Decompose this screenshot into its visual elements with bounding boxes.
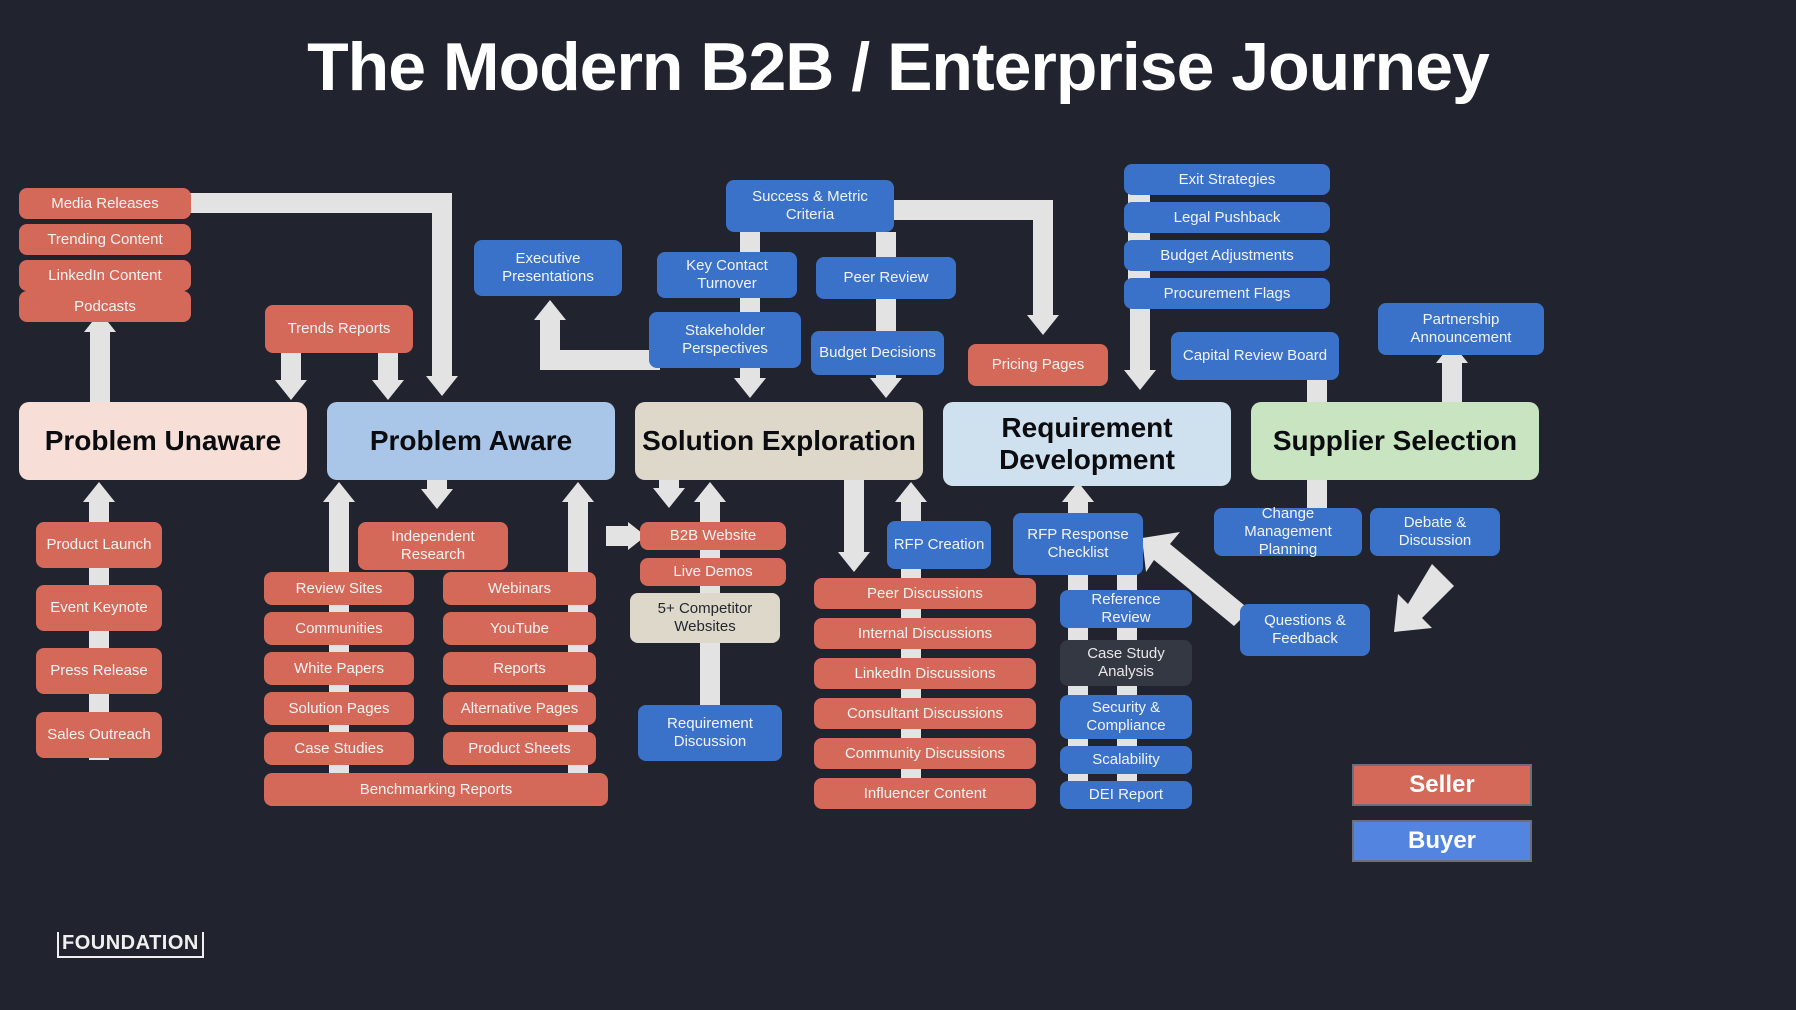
arrow-solution-up bbox=[694, 482, 726, 502]
connector-aware-to-solution-h bbox=[606, 526, 630, 546]
node-label: YouTube bbox=[490, 620, 549, 638]
node-label: LinkedIn Content bbox=[48, 267, 161, 285]
node-capital-review-board[interactable]: Capital Review Board bbox=[1171, 332, 1339, 380]
arrow-media-to-aware bbox=[426, 376, 458, 396]
connector-solution-right-down-v bbox=[844, 478, 864, 558]
node-communities[interactable]: Communities bbox=[264, 612, 414, 645]
node-label: Executive Presentations bbox=[480, 250, 616, 285]
node-label: Requirement Discussion bbox=[644, 715, 776, 750]
node-case-studies[interactable]: Case Studies bbox=[264, 732, 414, 765]
node-sales-outreach[interactable]: Sales Outreach bbox=[36, 712, 162, 758]
node-pricing-pages[interactable]: Pricing Pages bbox=[968, 344, 1108, 386]
node-community-discussions[interactable]: Community Discussions bbox=[814, 738, 1036, 769]
node-internal-discussions[interactable]: Internal Discussions bbox=[814, 618, 1036, 649]
node-label: Questions & Feedback bbox=[1246, 612, 1364, 647]
node-alternative-pages[interactable]: Alternative Pages bbox=[443, 692, 596, 725]
node-youtube[interactable]: YouTube bbox=[443, 612, 596, 645]
node-label: White Papers bbox=[294, 660, 384, 678]
node-label: RFP Creation bbox=[894, 536, 985, 554]
node-label: LinkedIn Discussions bbox=[855, 665, 996, 683]
node-label: Press Release bbox=[50, 662, 148, 680]
arrow-stake-down bbox=[734, 378, 766, 398]
node-change-management-planning[interactable]: Change Management Planning bbox=[1214, 508, 1362, 556]
node-questions-feedback[interactable]: Questions & Feedback bbox=[1240, 604, 1370, 656]
node-label: Partnership Announcement bbox=[1384, 311, 1538, 346]
connector-trends-left-v bbox=[281, 350, 301, 382]
connector-stake-to-exec-v bbox=[540, 318, 560, 356]
node-linkedin-content[interactable]: LinkedIn Content bbox=[19, 260, 191, 291]
node-label: Peer Review bbox=[843, 269, 928, 287]
node-label: Stakeholder Perspectives bbox=[655, 322, 795, 357]
stage-supplier-selection[interactable]: Supplier Selection bbox=[1251, 402, 1539, 480]
node-label: Case Studies bbox=[294, 740, 383, 758]
node-requirement-discussion[interactable]: Requirement Discussion bbox=[638, 705, 782, 761]
node-label: Debate & Discussion bbox=[1376, 514, 1494, 549]
connector-success-to-pricing-v bbox=[1033, 200, 1053, 320]
node-executive-presentations[interactable]: Executive Presentations bbox=[474, 240, 622, 296]
node-label: B2B Website bbox=[670, 527, 756, 545]
node-label: Trends Reports bbox=[288, 320, 391, 338]
node-label: Budget Decisions bbox=[819, 344, 936, 362]
node-label: DEI Report bbox=[1089, 786, 1163, 804]
node-label: Reports bbox=[493, 660, 546, 678]
legend-buyer[interactable]: Buyer bbox=[1352, 820, 1532, 862]
node-trending-content[interactable]: Trending Content bbox=[19, 224, 191, 255]
stage-label: Problem Unaware bbox=[45, 425, 282, 457]
node-label: Solution Pages bbox=[289, 700, 390, 718]
node-label: Benchmarking Reports bbox=[360, 781, 513, 799]
node-label: Influencer Content bbox=[864, 785, 987, 803]
legend-seller[interactable]: Seller bbox=[1352, 764, 1532, 806]
diagram-canvas: The Modern B2B / Enterprise Journey bbox=[0, 0, 1796, 1010]
arrow-trends-right bbox=[372, 380, 404, 400]
connector-peer-to-budget bbox=[876, 296, 896, 334]
node-label: Legal Pushback bbox=[1174, 209, 1281, 227]
stage-label: Requirement Development bbox=[943, 412, 1231, 476]
stage-problem-aware[interactable]: Problem Aware bbox=[327, 402, 615, 480]
node-label: Pricing Pages bbox=[992, 356, 1085, 374]
node-label: Review Sites bbox=[296, 580, 383, 598]
connector-trends-right-v bbox=[378, 350, 398, 382]
stage-label: Supplier Selection bbox=[1273, 425, 1517, 457]
node-podcasts[interactable]: Podcasts bbox=[19, 291, 191, 322]
node-product-sheets[interactable]: Product Sheets bbox=[443, 732, 596, 765]
arrow-reviewsites-up bbox=[323, 482, 355, 502]
legend-label: Seller bbox=[1409, 771, 1474, 799]
node-trends-reports[interactable]: Trends Reports bbox=[265, 305, 413, 353]
stage-problem-unaware[interactable]: Problem Unaware bbox=[19, 402, 307, 480]
arrow-indep-research-down bbox=[421, 489, 453, 509]
node-label: Peer Discussions bbox=[867, 585, 983, 603]
legend-label: Buyer bbox=[1408, 827, 1476, 855]
node-label: Budget Adjustments bbox=[1160, 247, 1293, 265]
node-budget-decisions[interactable]: Budget Decisions bbox=[811, 331, 944, 375]
arrow-discussions-up bbox=[895, 482, 927, 502]
node-label: Trending Content bbox=[47, 231, 162, 249]
node-security-compliance[interactable]: Security & Compliance bbox=[1060, 695, 1192, 739]
arrow-trends-left bbox=[275, 380, 307, 400]
node-success-metric-criteria[interactable]: Success & Metric Criteria bbox=[726, 180, 894, 232]
node-scalability[interactable]: Scalability bbox=[1060, 746, 1192, 774]
node-label: Webinars bbox=[488, 580, 551, 598]
node-label: RFP Response Checklist bbox=[1019, 526, 1137, 561]
node-label: Sales Outreach bbox=[47, 726, 150, 744]
node-linkedin-discussions[interactable]: LinkedIn Discussions bbox=[814, 658, 1036, 689]
node-webinars[interactable]: Webinars bbox=[443, 572, 596, 605]
node-label: Live Demos bbox=[673, 563, 752, 581]
node-case-study-analysis[interactable]: Case Study Analysis bbox=[1060, 640, 1192, 686]
node-label: 5+ Competitor Websites bbox=[636, 600, 774, 635]
node-key-contact-turnover[interactable]: Key Contact Turnover bbox=[657, 252, 797, 298]
node-peer-review[interactable]: Peer Review bbox=[816, 257, 956, 299]
node-product-launch[interactable]: Product Launch bbox=[36, 522, 162, 568]
node-label: Key Contact Turnover bbox=[663, 257, 791, 292]
connector-success-to-pricing-h bbox=[893, 200, 1053, 220]
node-label: Capital Review Board bbox=[1183, 347, 1327, 365]
node-label: Scalability bbox=[1092, 751, 1160, 769]
node-reports[interactable]: Reports bbox=[443, 652, 596, 685]
stage-label: Solution Exploration bbox=[642, 425, 916, 457]
node-procurement-flags[interactable]: Procurement Flags bbox=[1124, 278, 1330, 309]
node-peer-discussions[interactable]: Peer Discussions bbox=[814, 578, 1036, 609]
node-label: Procurement Flags bbox=[1164, 285, 1291, 303]
arrow-budget-down bbox=[870, 378, 902, 398]
connector-success-to-peer bbox=[876, 232, 896, 260]
node-b2b-website[interactable]: B2B Website bbox=[640, 522, 786, 550]
arrow-success-to-pricing bbox=[1027, 315, 1059, 335]
node-event-keynote[interactable]: Event Keynote bbox=[36, 585, 162, 631]
stage-solution-exploration[interactable]: Solution Exploration bbox=[635, 402, 923, 480]
node-label: Event Keynote bbox=[50, 599, 148, 617]
node-white-papers[interactable]: White Papers bbox=[264, 652, 414, 685]
node-budget-adjustments[interactable]: Budget Adjustments bbox=[1124, 240, 1330, 271]
node-label: Reference Review bbox=[1066, 591, 1186, 626]
node-debate-discussion[interactable]: Debate & Discussion bbox=[1370, 508, 1500, 556]
node-solution-pages[interactable]: Solution Pages bbox=[264, 692, 414, 725]
connector-unaware-up-v bbox=[90, 330, 110, 410]
node-partnership-announcement[interactable]: Partnership Announcement bbox=[1378, 303, 1544, 355]
page-title: The Modern B2B / Enterprise Journey bbox=[0, 28, 1796, 106]
arrow-stake-to-exec bbox=[534, 300, 566, 320]
arrow-webinars-up bbox=[562, 482, 594, 502]
node-live-demos[interactable]: Live Demos bbox=[640, 558, 786, 586]
stage-label: Problem Aware bbox=[370, 425, 572, 457]
arrow-solution-down bbox=[653, 488, 685, 508]
node-label: Change Management Planning bbox=[1220, 505, 1356, 558]
foundation-logo: FOUNDATION bbox=[57, 932, 204, 958]
node-label: Security & Compliance bbox=[1066, 699, 1186, 734]
node-label: Media Releases bbox=[51, 195, 159, 213]
node-competitor-websites[interactable]: 5+ Competitor Websites bbox=[630, 593, 780, 643]
node-legal-pushback[interactable]: Legal Pushback bbox=[1124, 202, 1330, 233]
node-label: Success & Metric Criteria bbox=[732, 188, 888, 223]
node-rfp-response-checklist[interactable]: RFP Response Checklist bbox=[1013, 513, 1143, 575]
node-media-releases[interactable]: Media Releases bbox=[19, 188, 191, 219]
node-label: Independent Research bbox=[364, 528, 502, 563]
arrow-solution-right-down bbox=[838, 552, 870, 572]
stage-requirement-development[interactable]: Requirement Development bbox=[943, 402, 1231, 486]
node-stakeholder-perspectives[interactable]: Stakeholder Perspectives bbox=[649, 312, 801, 368]
connector-media-to-aware-h bbox=[190, 193, 452, 213]
node-label: Internal Discussions bbox=[858, 625, 992, 643]
node-benchmarking-reports[interactable]: Benchmarking Reports bbox=[264, 773, 608, 806]
node-press-release[interactable]: Press Release bbox=[36, 648, 162, 694]
node-label: Product Sheets bbox=[468, 740, 571, 758]
node-independent-research[interactable]: Independent Research bbox=[358, 522, 508, 570]
node-label: Podcasts bbox=[74, 298, 136, 316]
node-label: Exit Strategies bbox=[1179, 171, 1276, 189]
node-consultant-discussions[interactable]: Consultant Discussions bbox=[814, 698, 1036, 729]
node-review-sites[interactable]: Review Sites bbox=[264, 572, 414, 605]
node-rfp-creation[interactable]: RFP Creation bbox=[887, 521, 991, 569]
node-label: Alternative Pages bbox=[461, 700, 579, 718]
node-label: Communities bbox=[295, 620, 383, 638]
node-influencer-content[interactable]: Influencer Content bbox=[814, 778, 1036, 809]
node-label: Consultant Discussions bbox=[847, 705, 1003, 723]
node-label: Community Discussions bbox=[845, 745, 1005, 763]
node-reference-review[interactable]: Reference Review bbox=[1060, 590, 1192, 628]
arrow-product-launch-up bbox=[83, 482, 115, 502]
connector-media-to-aware-v bbox=[432, 193, 452, 378]
node-dei-report[interactable]: DEI Report bbox=[1060, 781, 1192, 809]
node-label: Product Launch bbox=[46, 536, 151, 554]
node-label: Case Study Analysis bbox=[1066, 645, 1186, 680]
node-exit-strategies[interactable]: Exit Strategies bbox=[1124, 164, 1330, 195]
